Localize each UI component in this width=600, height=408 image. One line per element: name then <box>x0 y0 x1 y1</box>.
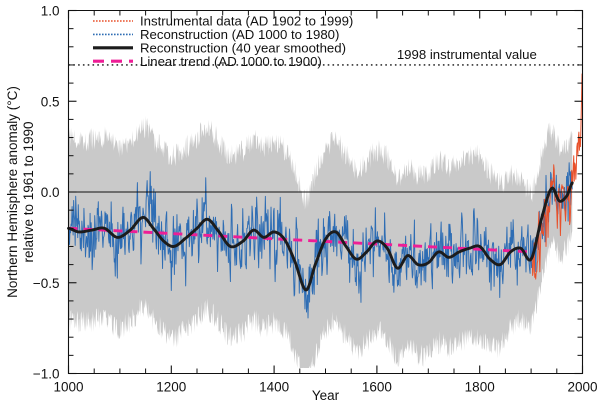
legend-label: Linear trend (AD 1000 to 1900) <box>140 54 322 69</box>
climate-reconstruction-figure: 1.00.50.0−0.5−1.010001200140016001800200… <box>0 0 600 408</box>
y-tick-label: 0.5 <box>41 94 60 109</box>
x-tick-label: 1400 <box>259 380 289 395</box>
y-tick-label: 0.0 <box>41 185 60 200</box>
1998-instrumental-value-label: 1998 instrumental value <box>397 47 537 62</box>
x-tick-label: 2000 <box>567 380 597 395</box>
chart-canvas: 1.00.50.0−0.5−1.010001200140016001800200… <box>0 0 600 408</box>
x-tick-label: 1200 <box>156 380 186 395</box>
x-tick-label: 1000 <box>53 380 83 395</box>
x-axis-title: Year <box>312 388 340 403</box>
y-tick-label: −0.5 <box>33 276 60 291</box>
x-tick-label: 1800 <box>465 380 495 395</box>
y-axis-title-line-1: Northern Hemisphere anomaly (°C) <box>5 86 20 298</box>
x-tick-label: 1600 <box>362 380 392 395</box>
y-tick-label: 1.0 <box>41 4 60 19</box>
y-axis-title-line-2: relative to 1961 to 1990 <box>21 121 36 262</box>
